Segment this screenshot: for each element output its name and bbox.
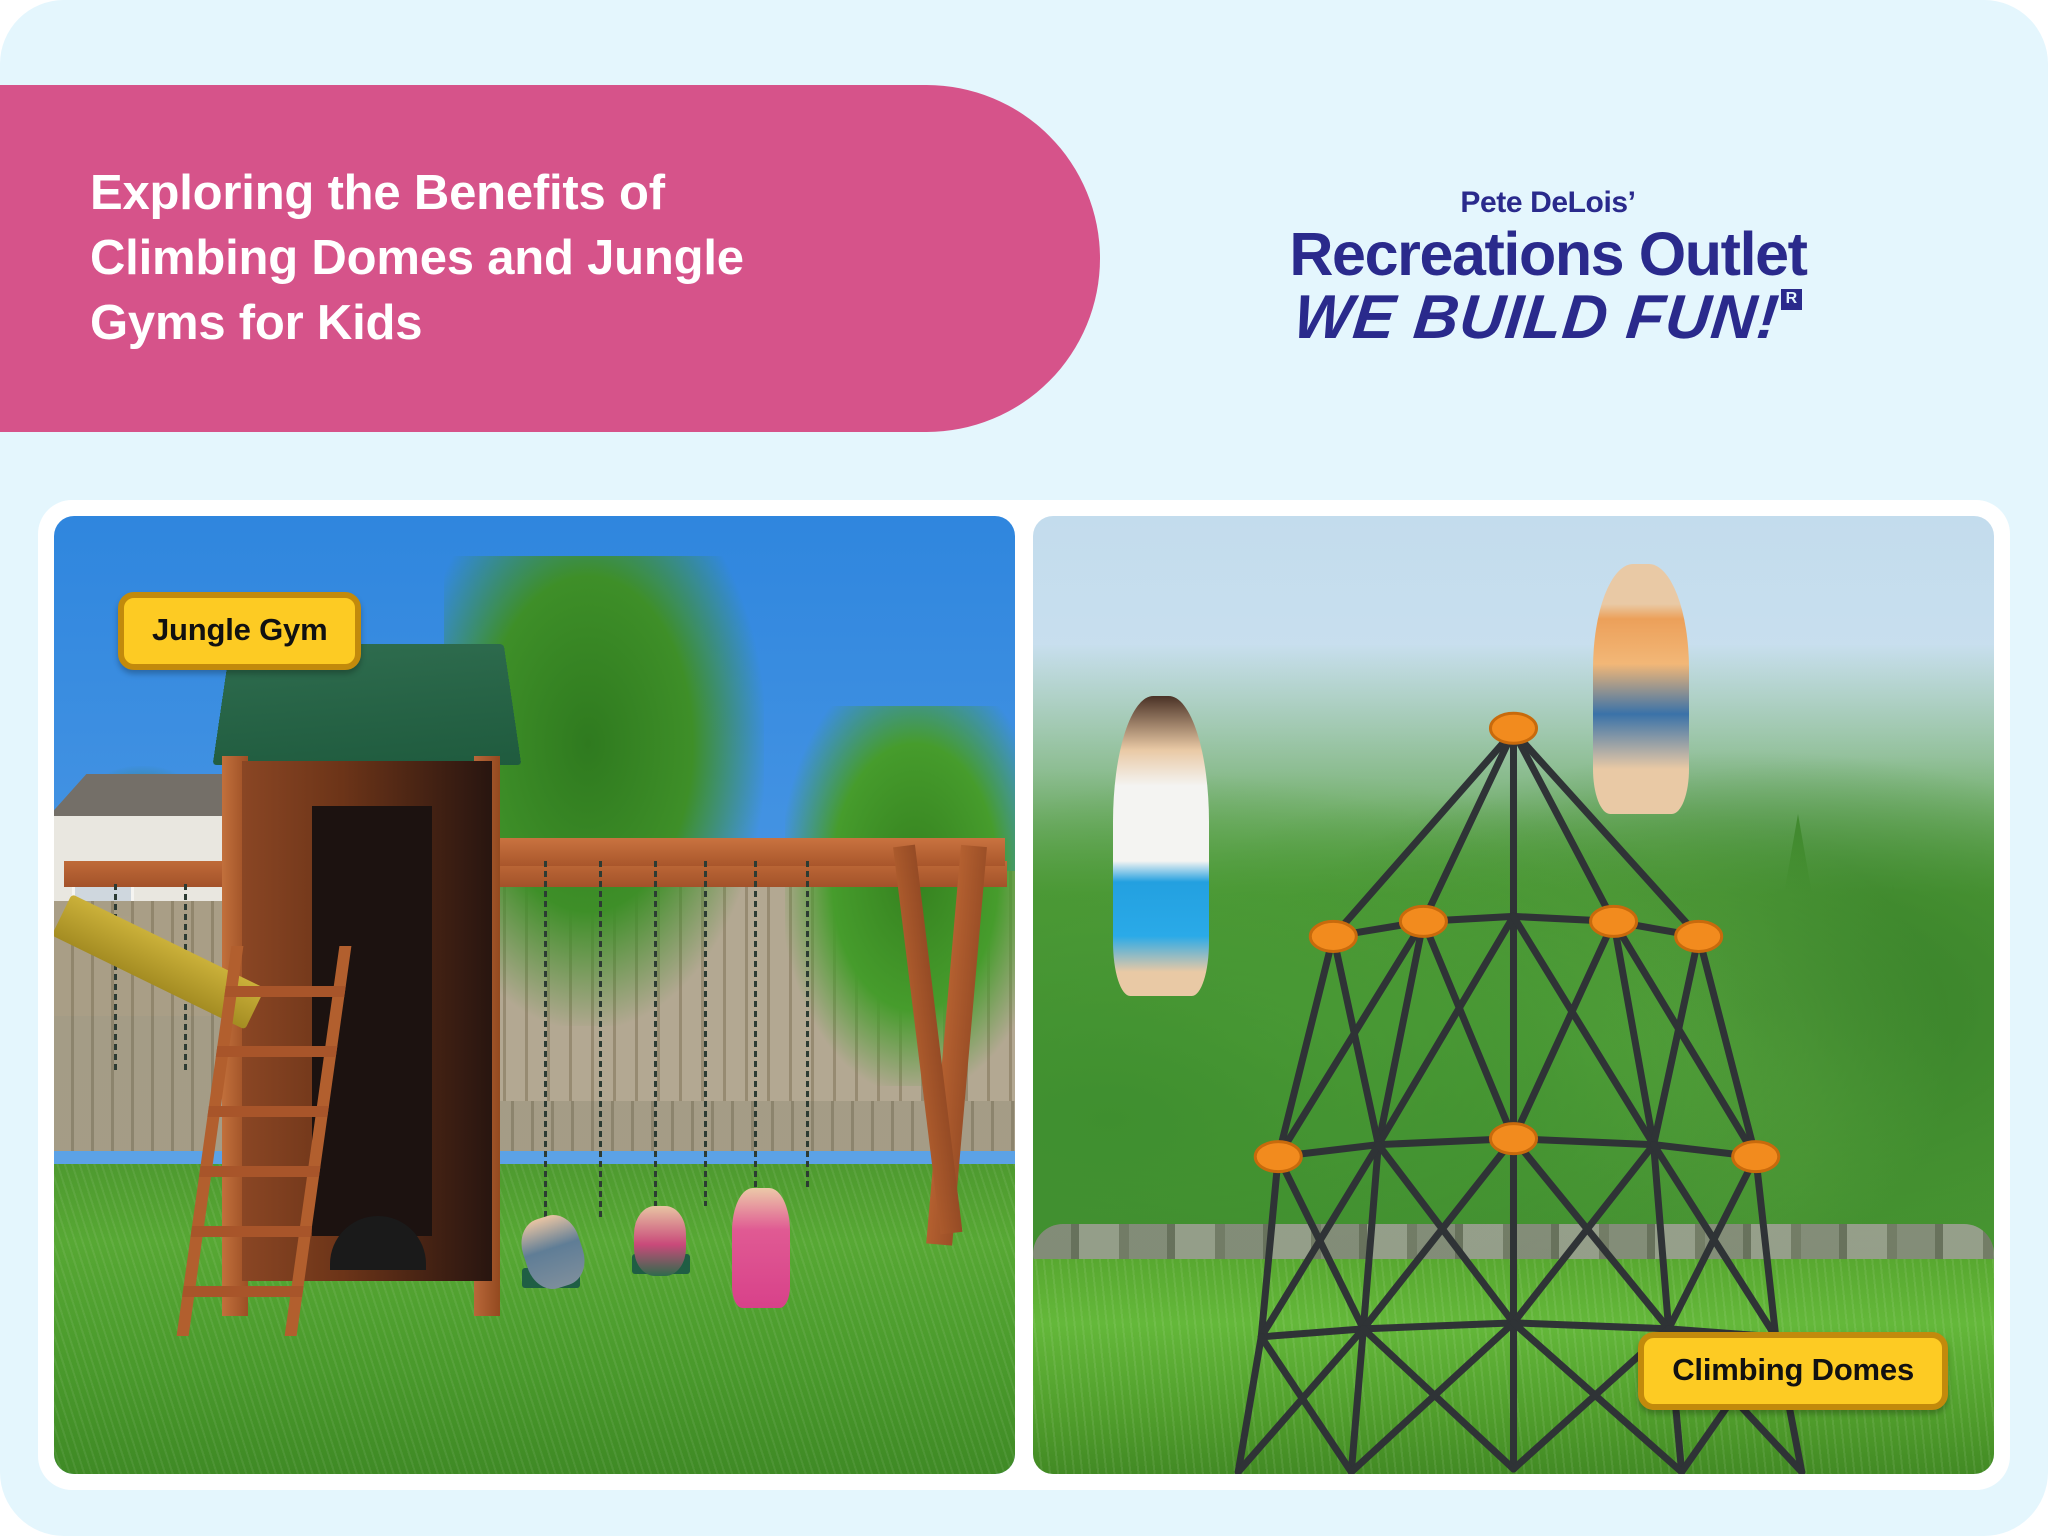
brand-slogan-row: WE BUILD FUN! R	[1288, 287, 1808, 349]
ladder-step	[207, 1106, 329, 1117]
dome-connector	[1591, 906, 1637, 936]
dome-connector	[1255, 1142, 1301, 1172]
toddler-in-bucket-swing	[634, 1206, 686, 1276]
ladder-step	[224, 986, 346, 997]
swing-chain	[114, 884, 117, 1074]
swing-chain	[704, 861, 707, 1206]
swing-beam-right	[484, 838, 1005, 866]
brand-logo[interactable]: Pete DeLois’ Recreations Outlet WE BUILD…	[1288, 188, 1808, 349]
child-on-dome-top	[1593, 564, 1689, 814]
swing-chain	[654, 861, 657, 1206]
brand-name: Recreations Outlet	[1288, 224, 1808, 285]
dome-connector	[1400, 906, 1446, 936]
swing-chain	[599, 861, 602, 1221]
jungle-gym-photo[interactable]: Jungle Gym	[54, 516, 1015, 1474]
page-title: Exploring the Benefits of Climbing Domes…	[90, 161, 810, 355]
page-root: Exploring the Benefits of Climbing Domes…	[0, 0, 2048, 1536]
climbing-dome-photo[interactable]: Climbing Domes	[1033, 516, 1994, 1474]
brand-slogan: WE BUILD FUN!	[1291, 287, 1782, 349]
swing-chain	[544, 861, 547, 1221]
ladder-step	[216, 1046, 338, 1057]
jungle-gym-badge[interactable]: Jungle Gym	[118, 592, 361, 670]
brand-owner-line: Pete DeLois’	[1288, 188, 1808, 218]
child-standing	[732, 1188, 790, 1308]
dome-connector	[1310, 921, 1356, 951]
swing-chain	[806, 861, 809, 1191]
ladder-step	[199, 1166, 321, 1177]
swing-chain	[754, 861, 757, 1191]
climbing-domes-badge[interactable]: Climbing Domes	[1638, 1332, 1948, 1410]
title-banner: Exploring the Benefits of Climbing Domes…	[0, 85, 1100, 432]
registered-trademark-icon: R	[1781, 289, 1802, 310]
child-climbing-dome	[1113, 696, 1209, 996]
dome-connector	[1490, 1124, 1536, 1154]
photo-card: Jungle Gym	[38, 500, 2010, 1490]
dome-connector	[1676, 921, 1722, 951]
dome-connector	[1733, 1142, 1779, 1172]
ladder-step	[191, 1226, 313, 1237]
ladder-step	[182, 1286, 304, 1297]
dome-connector	[1490, 713, 1536, 743]
